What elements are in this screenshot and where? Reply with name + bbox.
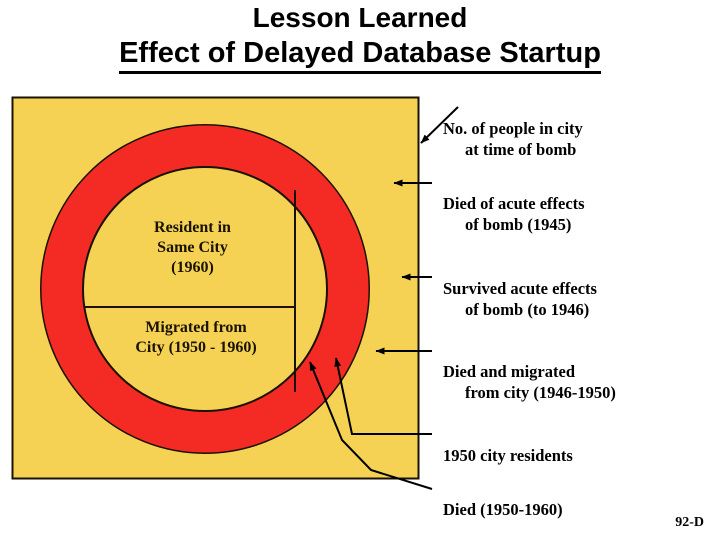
callout-died-1950-1960: Died (1950-1960) (443, 478, 563, 520)
callout-line-1: Died and migrated (443, 362, 575, 381)
inner-label-migrated-from-city: Migrated from City (1950 - 1960) (96, 318, 296, 358)
callout-line-2: of bomb (1945) (443, 214, 585, 235)
callout-died-and-migrated: Died and migrated from city (1946-1950) (443, 340, 616, 424)
callout-line-1: 1950 city residents (443, 446, 573, 465)
callout-1950-city-residents: 1950 city residents (443, 424, 573, 466)
callout-died-acute-effects: Died of acute effects of bomb (1945) (443, 172, 585, 256)
callout-line-1: No. of people in city (443, 119, 583, 138)
slide-page: Lesson Learned Effect of Delayed Databas… (0, 0, 720, 540)
inner-label-resident-same-city: Resident in Same City (1960) (105, 218, 280, 278)
callout-survived-acute-effects: Survived acute effects of bomb (to 1946) (443, 257, 597, 341)
callout-people-in-city-at-bomb: No. of people in city at time of bomb (443, 97, 583, 181)
callout-line-2: from city (1946-1950) (443, 382, 616, 403)
callout-line-1: Died (1950-1960) (443, 500, 563, 519)
ring-inner-outline (83, 167, 327, 411)
callout-line-2: of bomb (to 1946) (443, 299, 597, 320)
callout-line-2: at time of bomb (443, 139, 583, 160)
callout-line-1: Survived acute effects (443, 279, 597, 298)
callout-line-1: Died of acute effects (443, 194, 585, 213)
slide-number: 92-D (675, 515, 704, 531)
